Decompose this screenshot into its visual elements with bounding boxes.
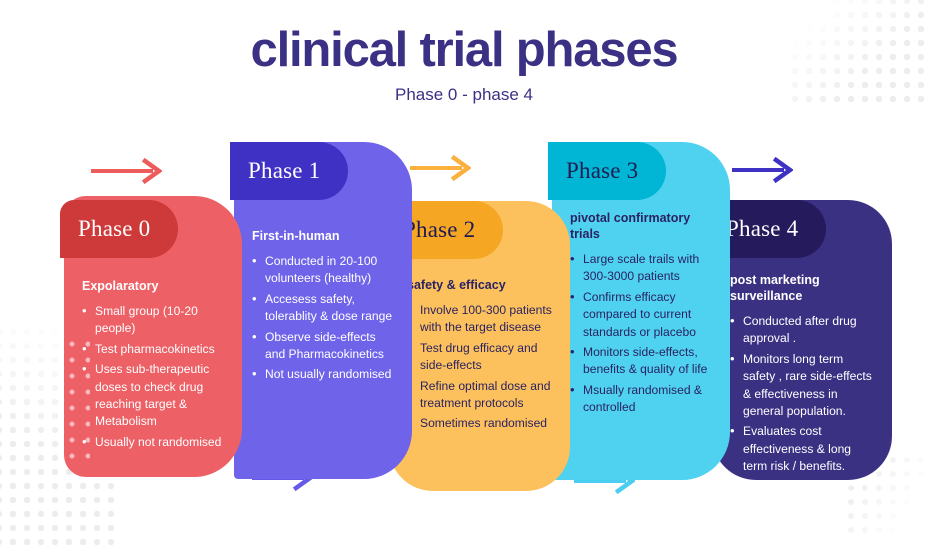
phase-bullet-item: Not usually randomised	[252, 366, 398, 383]
arrow-to-phase-4	[731, 157, 793, 183]
phase-tab-phase-1[interactable]: Phase 1	[230, 142, 348, 200]
phase-bullet-item: Msually randomised & controlled	[570, 382, 716, 417]
phase-bullet-item: Refine optimal dose and treatment protoc…	[407, 378, 556, 413]
phase-bullet-item: Monitors side-effects, benefits & qualit…	[570, 344, 716, 379]
phase-bullet-list: Conducted after drug approval .Monitors …	[730, 313, 878, 476]
phase-bullet-item: Observe side-effects and Pharmacokinetic…	[252, 329, 398, 364]
phase-tab-phase-0[interactable]: Phase 0	[60, 200, 178, 258]
phase-heading: post marketing surveillance	[730, 272, 878, 304]
page-subtitle: Phase 0 - phase 4	[0, 85, 928, 105]
phase-tab-label: Phase 1	[248, 158, 320, 184]
phase-tab-label: Phase 4	[726, 216, 798, 242]
phase-heading: safety & efficacy	[407, 277, 556, 293]
phase-bullet-list: Involve 100-300 patients with the target…	[407, 302, 556, 433]
phase-bullet-item: Involve 100-300 patients with the target…	[407, 302, 556, 337]
phase-content-phase-4: post marketing surveillanceConducted aft…	[712, 272, 892, 479]
phase-heading: First-in-human	[252, 228, 398, 244]
phase-tab-label: Phase 0	[78, 216, 150, 242]
phase-card-phase-2[interactable]: Phase 2safety & efficacyInvolve 100-300 …	[389, 201, 570, 491]
phase-bullet-item: Usually not randomised	[82, 434, 228, 451]
phase-content-phase-3: pivotal confirmatory trialsLarge scale t…	[552, 210, 730, 420]
phase-bullet-item: Accesess safety, tolerablity & dose rang…	[252, 291, 398, 326]
phase-bullet-item: Test pharmacokinetics	[82, 341, 228, 358]
phase-bullet-item: Uses sub-therapeutic doses to check drug…	[82, 361, 228, 431]
page-title: clinical trial phases	[0, 22, 928, 78]
phase-tab-label: Phase 2	[403, 217, 475, 243]
phase-bullet-item: Confirms efficacy compared to current st…	[570, 289, 716, 341]
phase-heading: pivotal confirmatory trials	[570, 210, 716, 242]
phase-tab-phase-3[interactable]: Phase 3	[548, 142, 666, 200]
phase-bullet-item: Conducted after drug approval .	[730, 313, 878, 348]
phase-tab-label: Phase 3	[566, 158, 638, 184]
phase-card-phase-4[interactable]: Phase 4post marketing surveillanceConduc…	[712, 200, 892, 480]
phase-bullet-list: Large scale trails with 300-3000 patient…	[570, 251, 716, 417]
phase-card-phase-3[interactable]: Phase 3pivotal confirmatory trialsLarge …	[552, 142, 730, 480]
arrow-to-phase-1	[90, 158, 162, 184]
phase-heading: Expolaratory	[82, 278, 228, 294]
phase-content-phase-2: safety & efficacyInvolve 100-300 patient…	[389, 277, 570, 436]
phase-content-phase-1: First-in-humanConducted in 20-100 volunt…	[234, 228, 412, 387]
arrow-to-phase-2	[409, 155, 471, 181]
phase-bullet-item: Small group (10-20 people)	[82, 303, 228, 338]
infographic-canvas: clinical trial phases Phase 0 - phase 4 …	[0, 0, 928, 545]
phase-bullet-item: Monitors long term safety , rare side-ef…	[730, 351, 878, 421]
phase-card-phase-0[interactable]: Phase 0ExpolaratorySmall group (10-20 pe…	[64, 196, 242, 477]
phase-bullet-list: Small group (10-20 people)Test pharmacok…	[82, 303, 228, 451]
phase-bullet-item: Large scale trails with 300-3000 patient…	[570, 251, 716, 286]
phase-bullet-item: Evaluates cost effectiveness & long term…	[730, 423, 878, 475]
phase-bullet-list: Conducted in 20-100 volunteers (healthy)…	[252, 253, 398, 384]
phase-card-phase-1[interactable]: Phase 1First-in-humanConducted in 20-100…	[234, 142, 412, 479]
phase-content-phase-0: ExpolaratorySmall group (10-20 people)Te…	[64, 278, 242, 454]
phase-bullet-item: Conducted in 20-100 volunteers (healthy)	[252, 253, 398, 288]
phase-bullet-item: Test drug efficacy and side-effects	[407, 340, 556, 375]
phase-bullet-item: Sometimes randomised	[407, 415, 556, 432]
